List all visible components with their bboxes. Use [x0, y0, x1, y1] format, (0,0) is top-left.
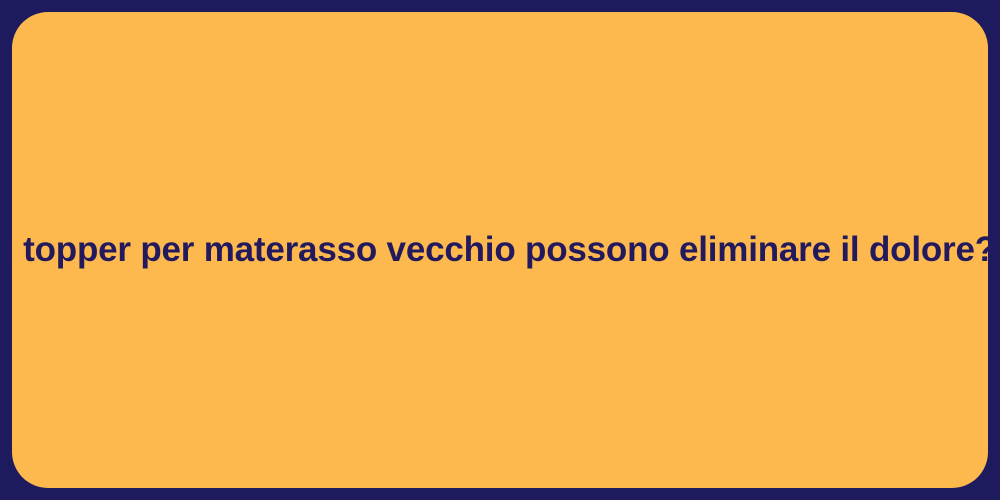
page-title: I topper per materasso vecchio possono e…: [4, 227, 996, 273]
card-frame: I topper per materasso vecchio possono e…: [0, 0, 1000, 500]
card-panel: I topper per materasso vecchio possono e…: [12, 12, 988, 488]
